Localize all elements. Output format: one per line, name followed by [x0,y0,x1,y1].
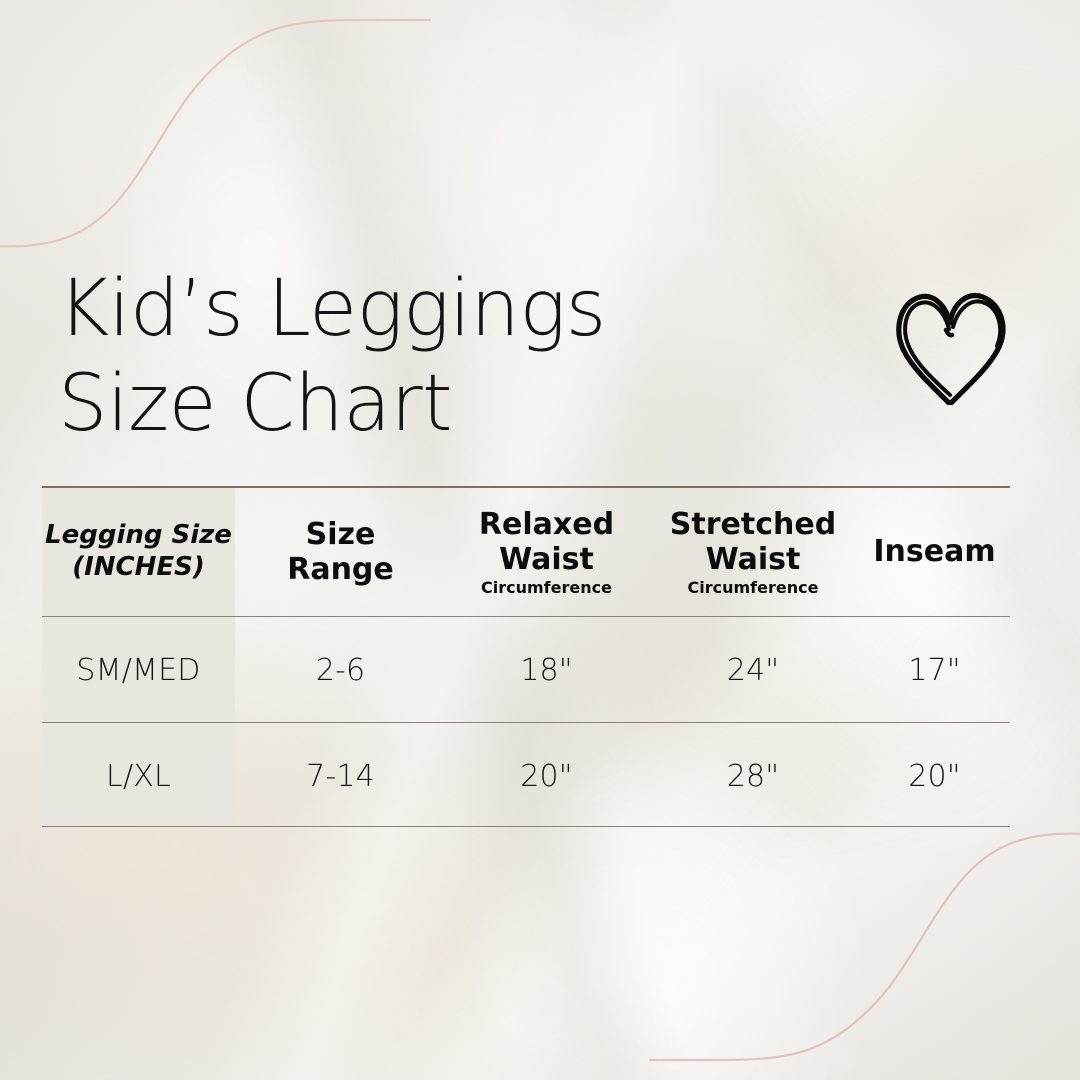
header-sublabel-relaxed-waist: Circumference [481,579,612,597]
table-header-row: Legging Size (INCHES) Size Range Relaxed… [42,488,1010,616]
cell-inseam: 17" [859,618,1010,722]
header-label-inseam: Inseam [873,534,995,569]
table-row: SM/MED 2-6 18" 24" 17" [42,618,1010,722]
cell-size-range: 2-6 [235,618,446,722]
size-chart-canvas: Kid’s Leggings Size Chart Legging Size (… [0,0,1080,1080]
cell-inseam: 20" [859,724,1010,828]
cell-relaxed-waist: 20" [446,724,647,828]
cell-legging-size: L/XL [42,724,235,828]
curve-bottom-right-icon [650,834,1080,1060]
header-label-relaxed-waist: Relaxed Waist [479,507,614,577]
header-label-size-range: Size Range [287,517,394,587]
table-rule-header [42,616,1010,617]
heart-doodle-icon [893,283,1011,405]
header-cell-legging-size: Legging Size (INCHES) [42,488,235,616]
curve-top-left-icon [0,20,430,246]
cell-relaxed-waist: 18" [446,618,647,722]
header-label-stretched-waist: Stretched Waist [670,507,836,577]
header-cell-relaxed-waist: Relaxed Waist Circumference [446,488,647,616]
header-cell-size-range: Size Range [235,488,446,616]
header-cell-stretched-waist: Stretched Waist Circumference [647,488,859,616]
header-sublabel-stretched-waist: Circumference [688,579,819,597]
size-chart-table: Legging Size (INCHES) Size Range Relaxed… [42,486,1010,828]
cell-size-range: 7-14 [235,724,446,828]
cell-legging-size: SM/MED [42,618,235,722]
header-label-legging-size: Legging Size (INCHES) [45,520,232,583]
cell-stretched-waist: 24" [647,618,859,722]
table-row: L/XL 7-14 20" 28" 20" [42,724,1010,828]
cell-stretched-waist: 28" [647,724,859,828]
page-title: Kid’s Leggings Size Chart [58,262,758,452]
header-cell-inseam: Inseam [859,488,1010,616]
table-rule-row1 [42,722,1010,723]
